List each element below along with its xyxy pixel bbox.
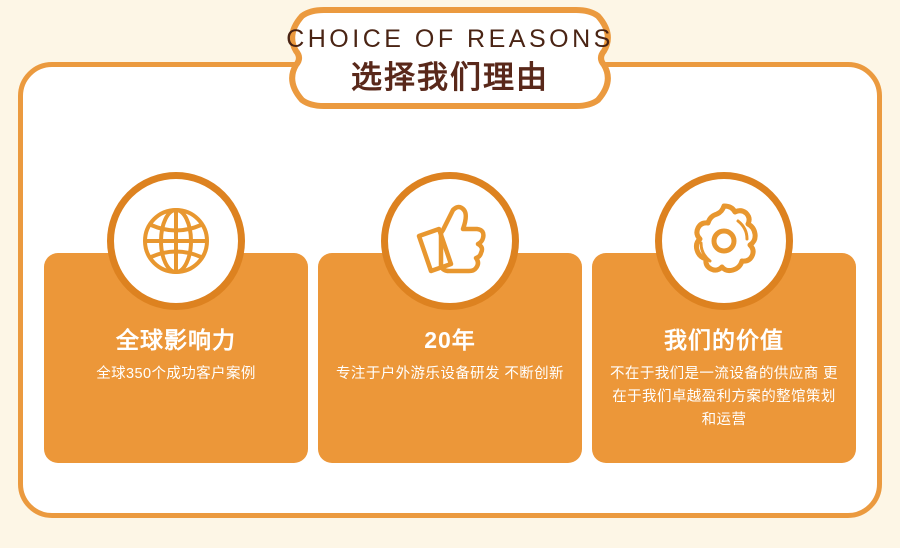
gear-icon bbox=[655, 172, 793, 310]
card-subtitle: 不在于我们是一流设备的供应商 更在于我们卓越盈利方案的整馆策划和运营 bbox=[606, 363, 842, 433]
header-ribbon: CHOICE OF REASONS 选择我们理由 bbox=[262, 6, 638, 109]
card-title: 我们的价值 bbox=[664, 329, 784, 352]
feature-card-list: 全球影响力 全球350个成功客户案例 20年 专注于户外游乐设备研发 不断创新 bbox=[44, 253, 856, 463]
globe-icon bbox=[107, 172, 245, 310]
card-title: 全球影响力 bbox=[116, 329, 236, 352]
card-subtitle: 专注于户外游乐设备研发 不断创新 bbox=[336, 363, 564, 386]
thumbs-up-icon bbox=[381, 172, 519, 310]
card-subtitle: 全球350个成功客户案例 bbox=[96, 363, 256, 386]
feature-card-twenty-years[interactable]: 20年 专注于户外游乐设备研发 不断创新 bbox=[318, 253, 582, 463]
feature-card-our-value[interactable]: 我们的价值 不在于我们是一流设备的供应商 更在于我们卓越盈利方案的整馆策划和运营 bbox=[592, 253, 856, 463]
reasons-section: CHOICE OF REASONS 选择我们理由 全球影响力 bbox=[0, 0, 900, 548]
feature-card-global-influence[interactable]: 全球影响力 全球350个成功客户案例 bbox=[44, 253, 308, 463]
card-title: 20年 bbox=[424, 329, 476, 352]
ribbon-shape-icon bbox=[262, 6, 638, 109]
